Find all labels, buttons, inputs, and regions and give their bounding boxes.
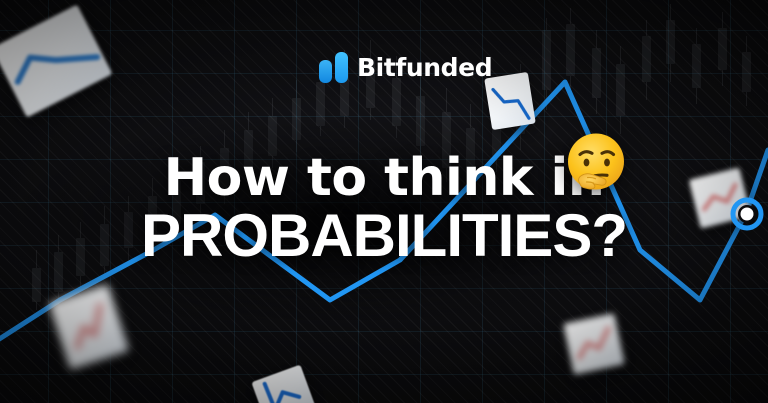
headline-line-1: How to think in: [0, 152, 768, 204]
logo-bar-right: [335, 52, 348, 83]
headline-block: How to think in PROBABILITIES?: [0, 152, 768, 266]
bitfunded-bars-logo-icon: [319, 52, 348, 83]
banner-canvas: Bitfunded How to think in PROBABILITIES?: [0, 0, 768, 403]
logo-bar-left: [319, 60, 332, 83]
brand-logo[interactable]: Bitfunded: [319, 52, 492, 83]
brand-name: Bitfunded: [357, 55, 492, 80]
thinking-face-emoji: [560, 128, 632, 200]
headline-line-2: PROBABILITIES?: [0, 206, 768, 266]
